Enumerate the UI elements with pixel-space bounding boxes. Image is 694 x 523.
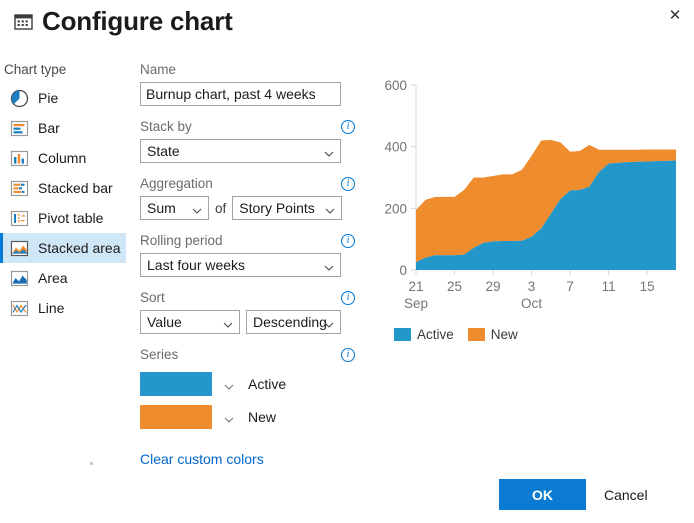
series-row-active: Active: [140, 372, 355, 396]
legend-swatch: [394, 328, 411, 341]
clear-custom-colors-link[interactable]: Clear custom colors: [140, 451, 264, 467]
chart-type-section-label: Chart type: [4, 62, 66, 77]
chart-legend: Active New: [394, 327, 532, 342]
sort-direction-value: Descending: [253, 314, 327, 330]
sort-direction-select[interactable]: Descending: [246, 310, 341, 334]
series-label: Series i: [140, 347, 355, 363]
stack-by-info-icon[interactable]: i: [341, 120, 355, 134]
svg-text:400: 400: [384, 140, 407, 155]
chevron-down-icon[interactable]: [224, 412, 234, 422]
chart-type-item-pivot-table[interactable]: Pivot table: [0, 203, 126, 233]
legend-item-new: New: [468, 327, 518, 342]
svg-text:Oct: Oct: [521, 296, 542, 311]
chart-type-item-line[interactable]: Line: [0, 293, 126, 323]
stacked-area-chart-icon: [10, 239, 29, 258]
chart-preview: 0200400600212529371115SepOct Active New: [368, 60, 688, 360]
rolling-period-select[interactable]: Last four weeks: [140, 253, 341, 277]
rolling-period-label-text: Rolling period: [140, 233, 341, 249]
sort-row: Value Descending: [140, 310, 355, 334]
svg-text:25: 25: [447, 279, 462, 294]
chevron-down-icon[interactable]: [224, 379, 234, 389]
ok-button[interactable]: OK: [499, 479, 586, 510]
aggregation-of-label: of: [215, 201, 226, 216]
chart-type-label: Line: [38, 300, 64, 316]
cancel-button[interactable]: Cancel: [604, 479, 684, 510]
sort-by-select[interactable]: Value: [140, 310, 240, 334]
rolling-period-info-icon[interactable]: i: [341, 234, 355, 248]
series-row-new: New: [140, 405, 355, 429]
svg-text:29: 29: [486, 279, 501, 294]
resize-dot: [90, 462, 93, 465]
name-input[interactable]: [140, 82, 341, 106]
close-icon[interactable]: ✕: [660, 2, 690, 28]
table-chart-icon: [14, 13, 33, 31]
configure-chart-dialog: Configure chart ✕ Chart type Pie: [0, 0, 694, 523]
name-label: Name: [140, 62, 355, 78]
pivot-table-icon: [10, 209, 29, 228]
chart-type-label: Stacked bar: [38, 180, 113, 196]
stack-by-label-text: Stack by: [140, 119, 341, 135]
series-name: Active: [248, 376, 286, 392]
chart-type-label: Pivot table: [38, 210, 103, 226]
svg-text:200: 200: [384, 201, 407, 216]
chart-type-item-column[interactable]: Column: [0, 143, 126, 173]
legend-swatch: [468, 328, 485, 341]
chevron-down-icon: [325, 203, 335, 213]
legend-item-active: Active: [394, 327, 454, 342]
pie-chart-icon: [10, 89, 29, 108]
stack-by-label: Stack by i: [140, 119, 355, 135]
column-chart-icon: [10, 149, 29, 168]
series-info-icon[interactable]: i: [341, 348, 355, 362]
svg-text:7: 7: [566, 279, 574, 294]
sort-label-text: Sort: [140, 290, 341, 306]
legend-label: Active: [417, 327, 454, 342]
dialog-titlebar: Configure chart ✕: [0, 0, 694, 46]
chart-type-list: Pie Bar Column: [0, 83, 126, 323]
legend-label: New: [491, 327, 518, 342]
name-label-text: Name: [140, 62, 355, 78]
svg-text:Sep: Sep: [404, 296, 428, 311]
aggregation-function-select[interactable]: Sum: [140, 196, 209, 220]
series-color-swatch[interactable]: [140, 405, 212, 429]
page-title: Configure chart: [42, 4, 233, 38]
chart-settings-form: Name Stack by i State Aggregation i Sum: [140, 62, 355, 469]
chart-type-item-pie[interactable]: Pie: [0, 83, 126, 113]
stack-by-value: State: [147, 143, 180, 159]
aggregation-field-value: Story Points: [239, 200, 314, 216]
chevron-down-icon: [324, 260, 334, 270]
rolling-period-label: Rolling period i: [140, 233, 355, 249]
chart-type-item-stacked-bar[interactable]: Stacked bar: [0, 173, 126, 203]
chevron-down-icon: [324, 317, 334, 327]
chevron-down-icon: [324, 146, 334, 156]
sort-by-value: Value: [147, 314, 182, 330]
sort-label: Sort i: [140, 290, 355, 306]
bar-chart-icon: [10, 119, 29, 138]
stacked-area-chart: 0200400600212529371115SepOct: [368, 60, 688, 322]
chart-type-item-bar[interactable]: Bar: [0, 113, 126, 143]
aggregation-label-text: Aggregation: [140, 176, 341, 192]
aggregation-row: Sum of Story Points: [140, 196, 355, 220]
aggregation-label: Aggregation i: [140, 176, 355, 192]
aggregation-function-value: Sum: [147, 200, 176, 216]
area-chart-icon: [10, 269, 29, 288]
line-chart-icon: [10, 299, 29, 318]
sort-info-icon[interactable]: i: [341, 291, 355, 305]
chart-type-label: Pie: [38, 90, 58, 106]
chart-type-label: Area: [38, 270, 68, 286]
svg-text:600: 600: [384, 78, 407, 93]
svg-text:11: 11: [602, 279, 616, 294]
aggregation-field-select[interactable]: Story Points: [232, 196, 342, 220]
stack-by-select[interactable]: State: [140, 139, 341, 163]
svg-text:0: 0: [399, 263, 407, 278]
series-label-text: Series: [140, 347, 341, 363]
chart-type-label: Bar: [38, 120, 60, 136]
aggregation-info-icon[interactable]: i: [341, 177, 355, 191]
chevron-down-icon: [223, 317, 233, 327]
stacked-bar-chart-icon: [10, 179, 29, 198]
chevron-down-icon: [192, 203, 202, 213]
series-color-swatch[interactable]: [140, 372, 212, 396]
svg-text:21: 21: [408, 279, 423, 294]
svg-text:3: 3: [528, 279, 536, 294]
svg-text:15: 15: [640, 279, 655, 294]
chart-type-item-stacked-area[interactable]: Stacked area: [0, 233, 126, 263]
chart-type-label: Stacked area: [38, 240, 121, 256]
series-name: New: [248, 409, 276, 425]
chart-type-item-area[interactable]: Area: [0, 263, 126, 293]
rolling-period-value: Last four weeks: [147, 257, 245, 273]
chart-type-label: Column: [38, 150, 86, 166]
